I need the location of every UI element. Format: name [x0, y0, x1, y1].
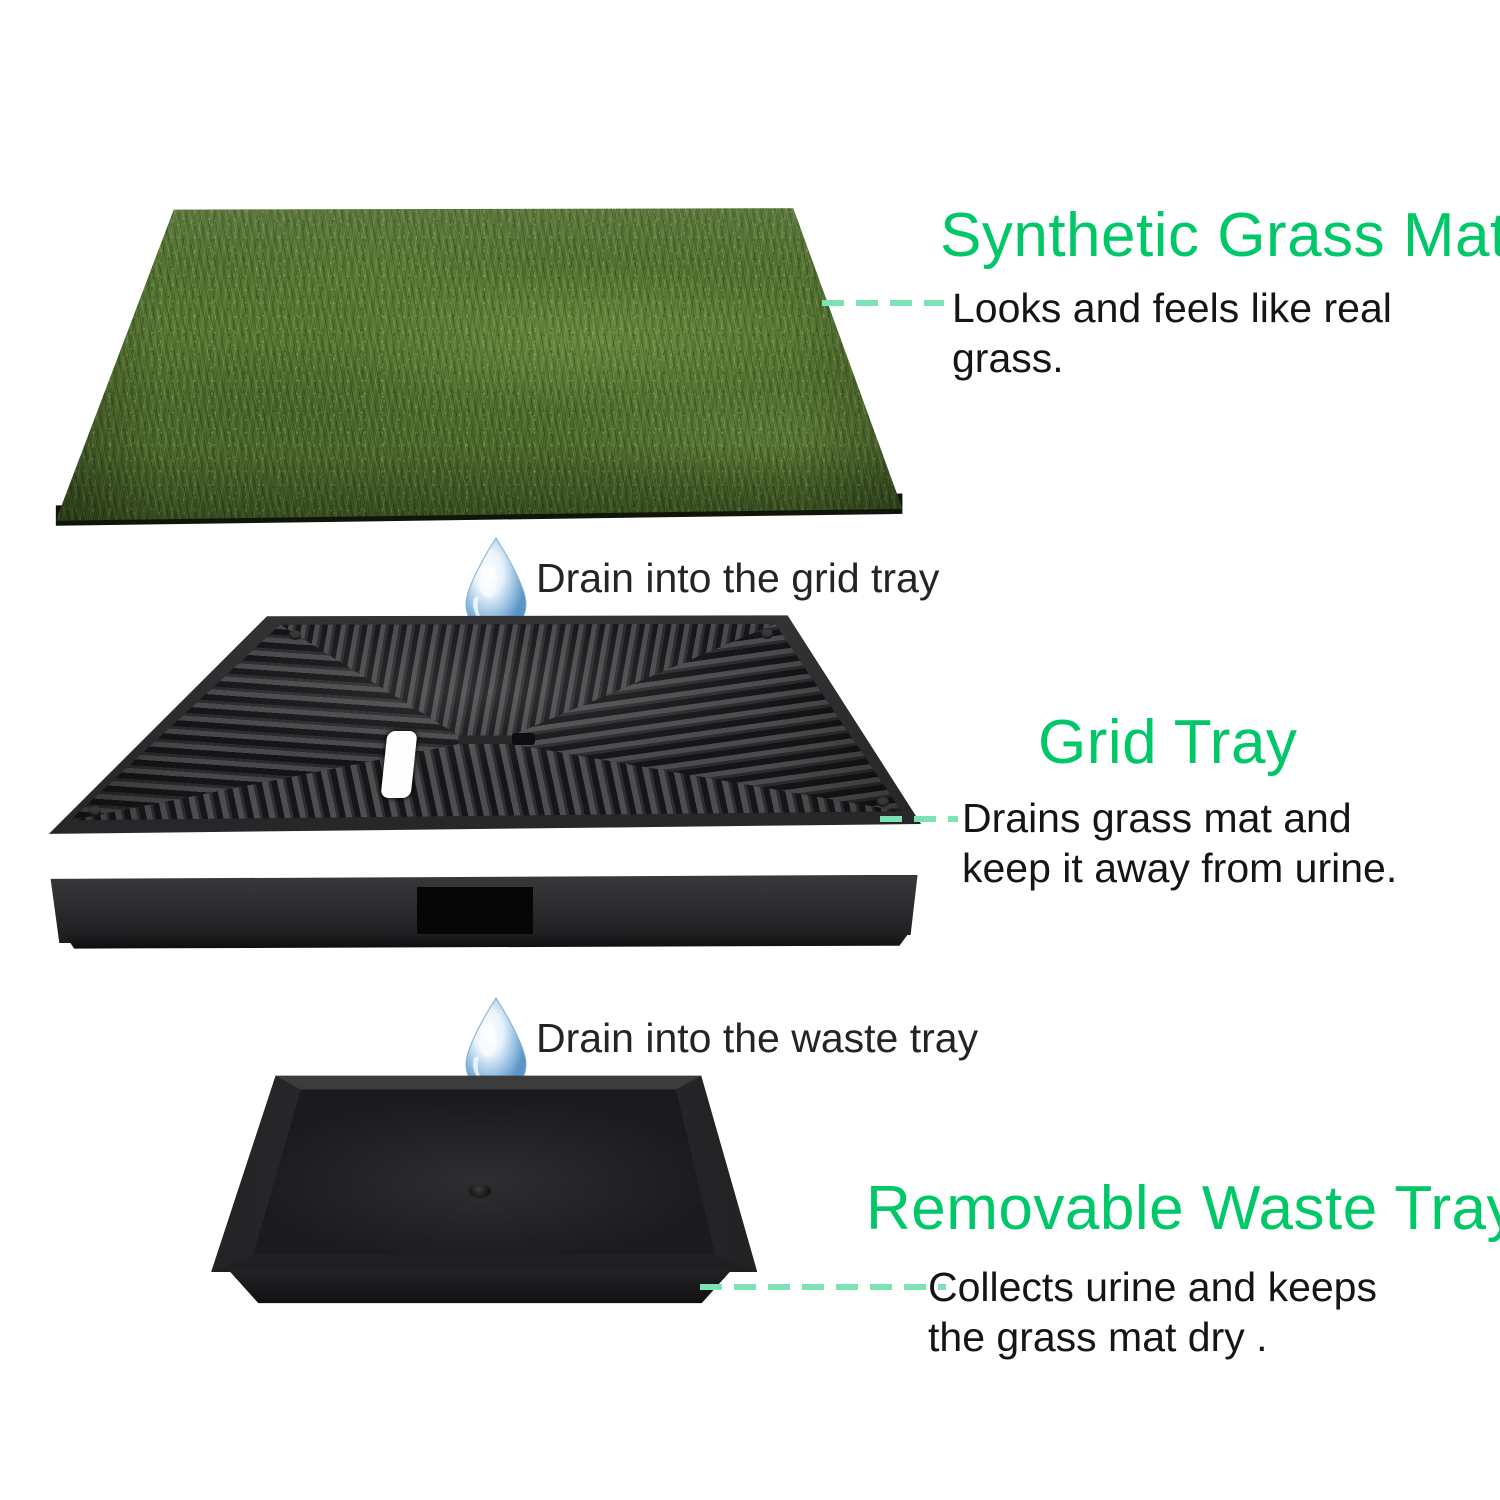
description-synthetic-grass-mat: Looks and feels like real grass. — [952, 283, 1472, 383]
heading-synthetic-grass-mat: Synthetic Grass Mat — [940, 205, 1500, 267]
description-removable-waste-tray: Collects urine and keeps the grass mat d… — [928, 1262, 1428, 1362]
grid-tray-surface — [40, 612, 930, 893]
grid-tray-boss-br — [877, 797, 889, 807]
grid-tray-rim — [40, 612, 930, 893]
heading-grid-tray: Grid Tray — [1038, 712, 1297, 774]
caption-drain-into-waste-tray: Drain into the waste tray — [536, 1018, 978, 1059]
heading-removable-waste-tray: Removable Waste Tray — [866, 1178, 1500, 1240]
connector-dash-grid-tray — [880, 816, 958, 822]
waste-tray-image — [200, 1062, 760, 1312]
grass-mat-shading — [40, 196, 920, 536]
grass-mat-surface — [40, 196, 920, 536]
grid-tray-image — [40, 612, 930, 972]
waste-tray-skirt — [228, 1270, 732, 1305]
connector-dash-waste-tray — [700, 1284, 946, 1290]
connector-dash-grass-mat — [822, 300, 944, 306]
description-grid-tray: Drains grass mat and keep it away from u… — [962, 793, 1442, 893]
grid-tray-boss-bl — [89, 806, 101, 816]
waste-tray-drain-plug — [469, 1185, 491, 1196]
product-infographic: Synthetic Grass Mat Looks and feels like… — [0, 0, 1500, 1500]
caption-drain-into-grid-tray: Drain into the grid tray — [536, 558, 939, 599]
grass-mat-image — [40, 196, 920, 536]
grid-tray-front-notch — [417, 887, 533, 934]
grid-tray-base-shadow — [61, 934, 912, 948]
grid-tray-center-mark — [512, 733, 535, 745]
